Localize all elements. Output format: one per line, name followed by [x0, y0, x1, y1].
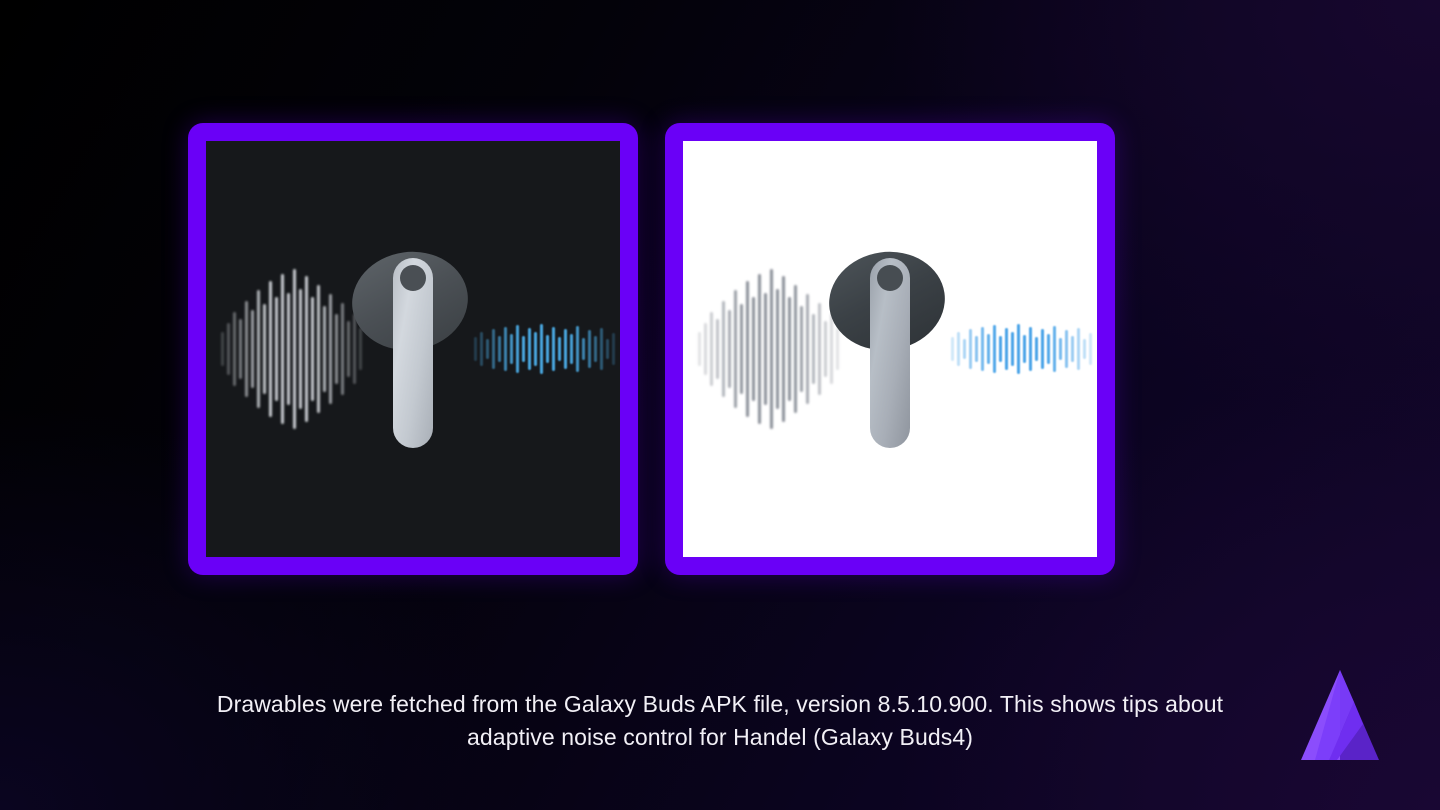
wave-bar [504, 327, 507, 371]
wave-bar [293, 269, 296, 429]
wave-bar [764, 293, 767, 405]
wave-bar [239, 319, 242, 379]
wave-bar [800, 306, 803, 392]
wave-bar [951, 337, 954, 361]
wave-bar [782, 276, 785, 422]
wave-bar [740, 304, 743, 394]
wave-bar [570, 334, 573, 364]
wave-bar [564, 329, 567, 369]
wave-bar [788, 297, 791, 401]
earbud-illustration [825, 244, 955, 454]
wave-bar [486, 339, 489, 359]
wave-bar [1065, 330, 1068, 368]
drawable-card-light[interactable] [665, 123, 1115, 575]
wave-bar [299, 289, 302, 409]
wave-bar [257, 290, 260, 408]
wave-bar [722, 301, 725, 397]
wave-bar [746, 281, 749, 417]
wave-bar [305, 276, 308, 422]
wave-bar [335, 314, 338, 384]
wave-bar [704, 323, 707, 375]
wave-bar [770, 269, 773, 429]
wave-bar [794, 285, 797, 413]
wave-bar [818, 303, 821, 395]
caption-text: Drawables were fetched from the Galaxy B… [190, 688, 1250, 754]
wave-bar [1077, 328, 1080, 370]
wave-bar [752, 297, 755, 401]
wave-bar [981, 327, 984, 371]
wave-bar [1035, 337, 1038, 361]
wave-bar [957, 332, 960, 366]
wave-bar [341, 303, 344, 395]
wave-bar [1029, 327, 1032, 371]
wave-bar [480, 332, 483, 366]
wave-bar [1053, 326, 1056, 372]
wave-bar [612, 333, 615, 365]
wave-bar [323, 306, 326, 392]
wave-bar [263, 304, 266, 394]
wave-bar [600, 328, 603, 370]
wave-bar [552, 327, 555, 371]
wave-bar [999, 336, 1002, 362]
earbud-illustration [348, 244, 478, 454]
wave-bar [528, 328, 531, 370]
wave-bar [311, 297, 314, 401]
wave-bar [287, 293, 290, 405]
wave-bar [776, 289, 779, 409]
earbud-tip [877, 265, 903, 291]
wave-bar [1059, 338, 1062, 360]
wave-bar [1083, 339, 1086, 359]
wave-bar [594, 336, 597, 362]
wave-bar [498, 336, 501, 362]
wave-bar [546, 335, 549, 363]
wave-bar [492, 329, 495, 369]
card-canvas-dark [206, 141, 620, 557]
wave-bar [275, 297, 278, 401]
wave-bar [558, 337, 561, 361]
wave-bar [582, 338, 585, 360]
wave-bar [576, 326, 579, 372]
noise-waveform-icon [691, 259, 839, 439]
wave-bar [606, 339, 609, 359]
noise-waveform-icon [214, 259, 362, 439]
wave-bar [716, 319, 719, 379]
drawable-cards-row [188, 123, 1115, 575]
wave-bar [728, 310, 731, 388]
wave-bar [806, 294, 809, 404]
wave-bar [317, 285, 320, 413]
wave-bar [1005, 328, 1008, 370]
wave-bar [269, 281, 272, 417]
wave-bar [1041, 329, 1044, 369]
wave-bar [251, 310, 254, 388]
drawable-card-dark[interactable] [188, 123, 638, 575]
wave-bar [522, 336, 525, 362]
wave-bar [812, 314, 815, 384]
wave-bar [233, 312, 236, 386]
wave-bar [969, 329, 972, 369]
wave-bar [510, 334, 513, 364]
card-canvas-light [683, 141, 1097, 557]
wave-bar [245, 301, 248, 397]
wave-bar [1047, 334, 1050, 364]
earbud-tip [400, 265, 426, 291]
wave-bar [474, 337, 477, 361]
wave-bar [516, 325, 519, 373]
wave-bar [1089, 333, 1092, 365]
wave-bar [987, 334, 990, 364]
audio-waveform-icon [951, 314, 1091, 384]
wave-bar [734, 290, 737, 408]
wave-bar [710, 312, 713, 386]
audio-waveform-icon [474, 314, 614, 384]
wave-bar [540, 324, 543, 374]
wave-bar [698, 332, 701, 366]
triangle-logo [1299, 668, 1381, 762]
wave-bar [975, 336, 978, 362]
wave-bar [963, 339, 966, 359]
wave-bar [1017, 324, 1020, 374]
wave-bar [1011, 332, 1014, 366]
wave-bar [758, 274, 761, 424]
wave-bar [281, 274, 284, 424]
wave-bar [534, 332, 537, 366]
wave-bar [227, 323, 230, 375]
wave-bar [221, 332, 224, 366]
wave-bar [993, 325, 996, 373]
wave-bar [329, 294, 332, 404]
wave-bar [1071, 336, 1074, 362]
wave-bar [1023, 335, 1026, 363]
wave-bar [588, 330, 591, 368]
